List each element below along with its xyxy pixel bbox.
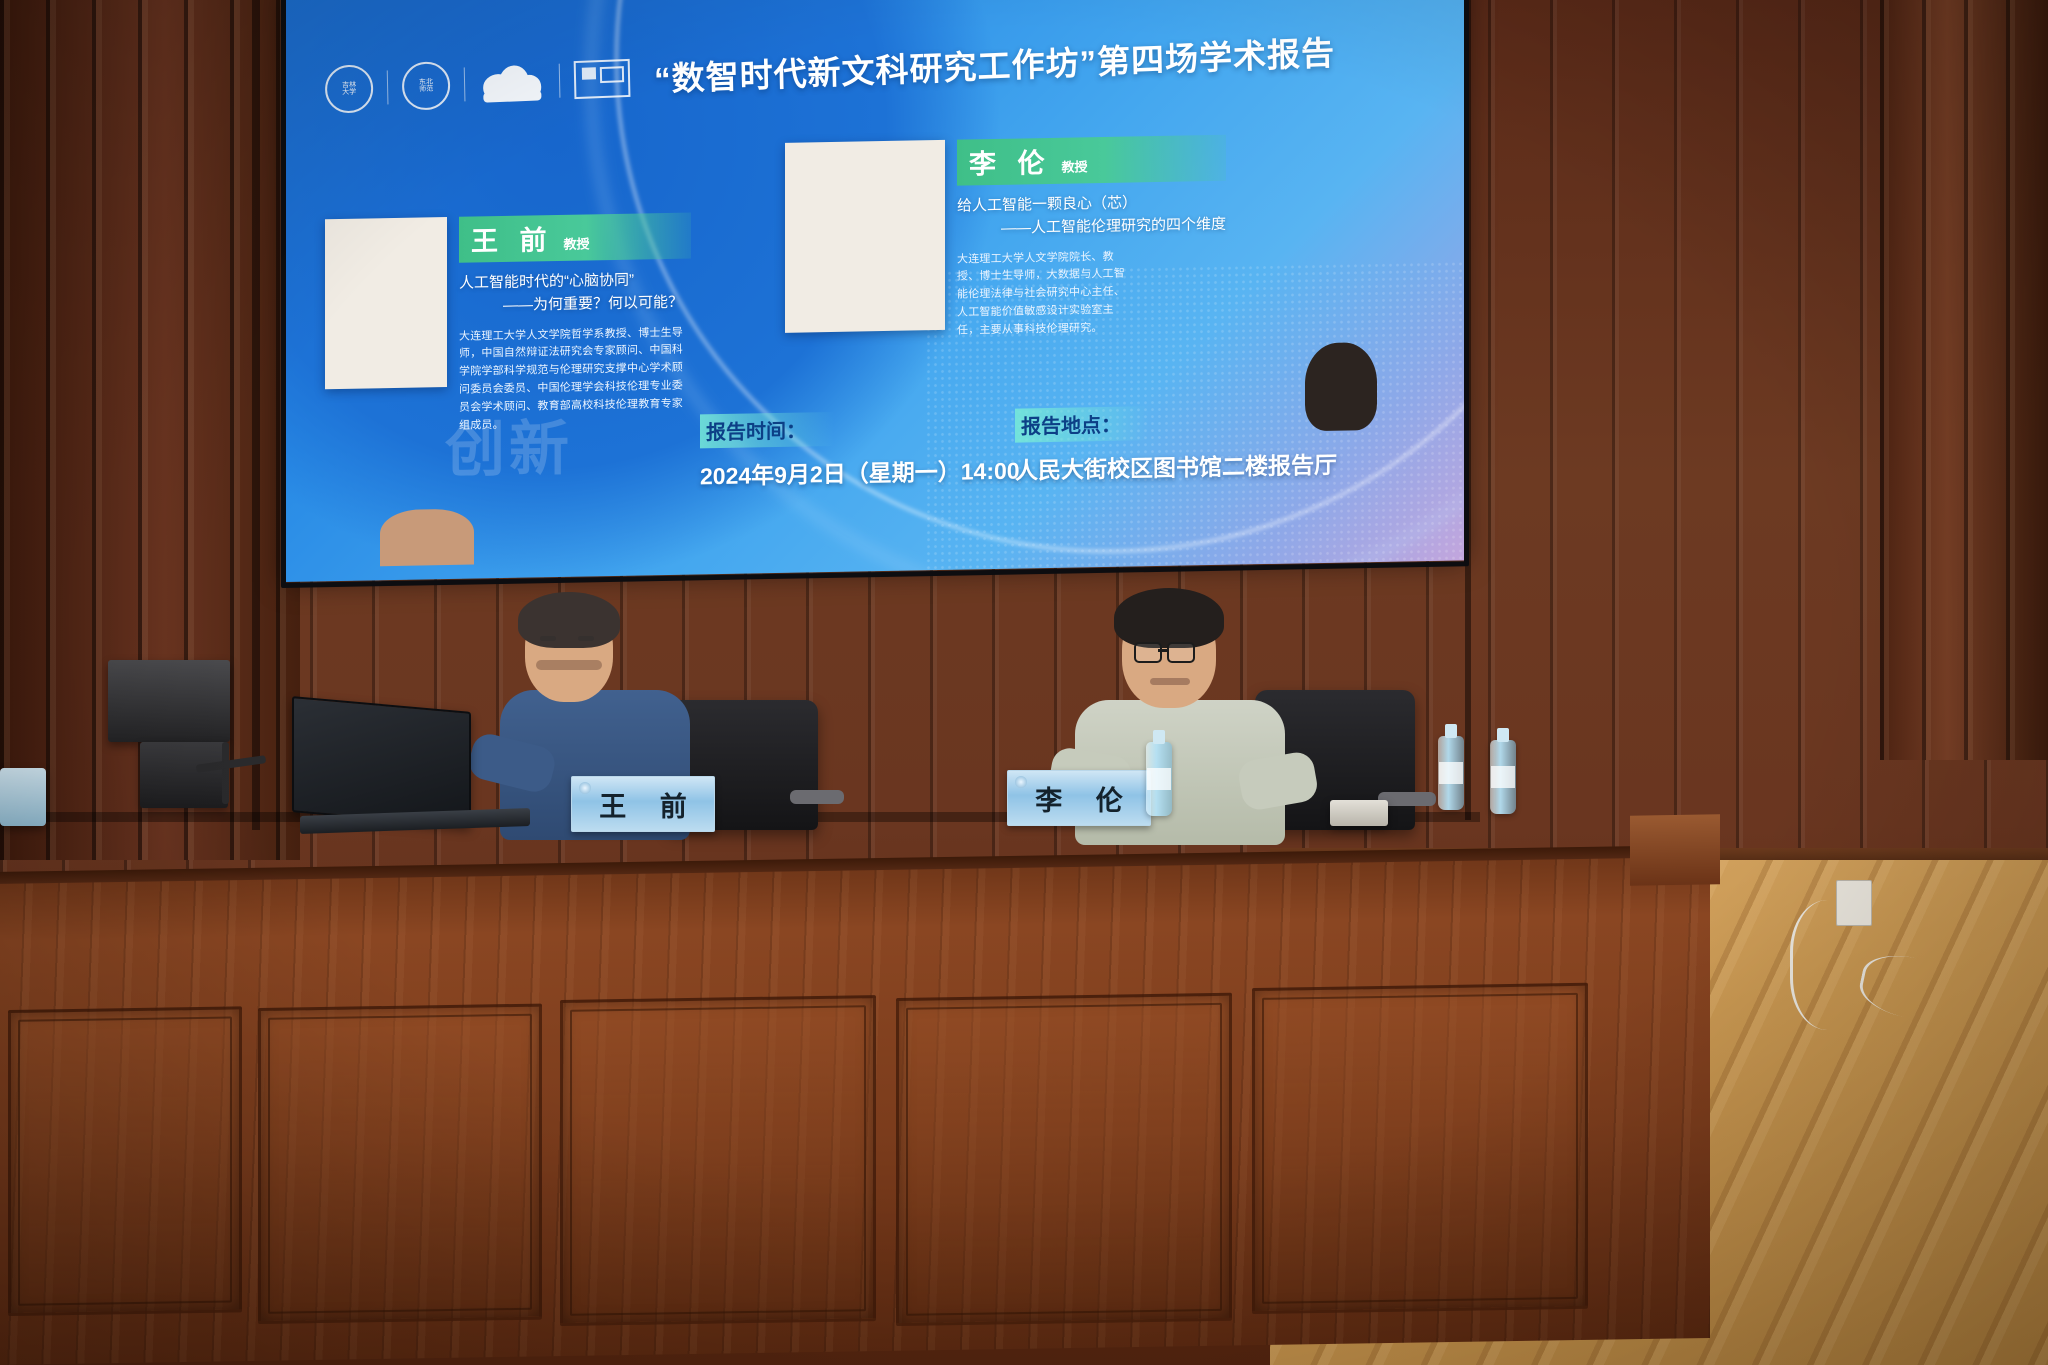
water-bottle[interactable] bbox=[1146, 742, 1172, 816]
water-bottle[interactable] bbox=[1438, 736, 1464, 810]
library-logo-icon bbox=[574, 59, 631, 99]
wall-seam bbox=[252, 0, 260, 830]
av-equipment-box[interactable] bbox=[108, 660, 230, 742]
university-emblem-2-icon: 东北师范 bbox=[402, 61, 451, 111]
person-2-hair bbox=[1114, 588, 1224, 648]
speaker-2-name-badge: 李 伦 教授 bbox=[957, 135, 1226, 186]
nameplate-li-lun-text: 李 伦 bbox=[1022, 779, 1136, 818]
desk-front-panel bbox=[258, 1004, 542, 1324]
desk-front-panel bbox=[1252, 983, 1588, 1314]
person-1-eye bbox=[540, 636, 556, 641]
nameplate-emblem-icon bbox=[1015, 776, 1027, 788]
speaker-1-name-badge: 王 前 教授 bbox=[459, 213, 691, 263]
desk-microphone-base[interactable] bbox=[1330, 800, 1388, 826]
emblem-1-text: 吉林大学 bbox=[342, 81, 356, 96]
eyeglasses-icon bbox=[1134, 642, 1208, 662]
place-label: 报告地点： bbox=[1015, 406, 1149, 442]
speaker-1-talk-title: 人工智能时代的“心脑协同” bbox=[459, 272, 634, 292]
speaker-1-talk: 人工智能时代的“心脑协同” ——为何重要？何以可能？ bbox=[459, 268, 691, 319]
logo-divider bbox=[559, 64, 561, 98]
nameplate-wang-qian: 王 前 bbox=[571, 776, 715, 832]
water-bottle[interactable] bbox=[1490, 740, 1516, 814]
water-bottle[interactable] bbox=[0, 768, 46, 826]
nameplate-li-lun: 李 伦 bbox=[1007, 770, 1151, 826]
university-emblem-1-icon: 吉林大学 bbox=[325, 64, 374, 114]
place-block: 报告地点： 人民大街校区图书馆二楼报告厅 bbox=[1015, 403, 1337, 486]
speaker-1-talk-subtitle: ——为何重要？何以可能？ bbox=[459, 291, 691, 319]
speaker-2-talk-title: 给人工智能一颗良心（芯） bbox=[957, 194, 1137, 214]
microphone-stand bbox=[222, 742, 229, 804]
time-label: 报告时间： bbox=[700, 412, 834, 448]
wall-right-column-grain bbox=[1880, 0, 2048, 760]
speaker-2-bio: 大连理工大学人文学院院长、教授、博士生导师，大数据与人工智能伦理法律与社会研究中… bbox=[957, 248, 1135, 340]
speaker-1-name: 王 前 bbox=[471, 218, 554, 259]
chair-armrest bbox=[790, 790, 844, 804]
laptop-screen[interactable] bbox=[292, 696, 471, 828]
emblem-2-text: 东北师范 bbox=[419, 78, 433, 93]
institute-cloud-logo-icon bbox=[479, 60, 546, 105]
conference-room-photo: 创新 吉林大学 东北师范 “数智时代新 bbox=[0, 0, 2048, 1365]
speaker-2-title-tag: 教授 bbox=[1062, 156, 1088, 175]
speaker-2-talk-subtitle: ——人工智能伦理研究的四个维度 bbox=[957, 213, 1226, 241]
speaker-card-1: 王 前 教授 人工智能时代的“心脑协同” ——为何重要？何以可能？ 大连理工大学… bbox=[325, 210, 805, 437]
time-block: 报告时间： 2024年9月2日（星期一）14:00 bbox=[700, 409, 1020, 492]
person-1-hair bbox=[518, 592, 620, 648]
speaker-card-2: 李 伦 教授 给人工智能一颗良心（芯） ——人工智能伦理研究的四个维度 大连理工… bbox=[785, 131, 1445, 344]
screen-footer: 报告时间： 2024年9月2日（星期一）14:00 报告地点： 人民大街校区图书… bbox=[285, 400, 1465, 532]
desk-right-end bbox=[1630, 814, 1720, 885]
place-value: 人民大街校区图书馆二楼报告厅 bbox=[1015, 446, 1337, 486]
person-1-eye bbox=[578, 636, 594, 641]
nameplate-wang-qian-text: 王 前 bbox=[586, 785, 700, 824]
desk-front-panel bbox=[8, 1006, 242, 1316]
speaker-1-portrait bbox=[325, 217, 447, 389]
led-presentation-screen: 创新 吉林大学 东北师范 “数智时代新 bbox=[285, 0, 1465, 582]
speaker-1-title-tag: 教授 bbox=[564, 233, 590, 252]
person-1-mouth-shadow bbox=[536, 660, 602, 670]
desk-front-panel bbox=[560, 995, 876, 1326]
desk-front-panel bbox=[896, 993, 1232, 1326]
wall-seam bbox=[1465, 0, 1471, 820]
nameplate-emblem-icon bbox=[579, 782, 591, 794]
speaker-2-portrait bbox=[785, 140, 945, 333]
time-value: 2024年9月2日（星期一）14:00 bbox=[700, 452, 1020, 492]
speaker-2-talk: 给人工智能一颗良心（芯） ——人工智能伦理研究的四个维度 bbox=[957, 190, 1226, 241]
logo-divider bbox=[387, 70, 389, 104]
av-equipment-box[interactable] bbox=[140, 742, 228, 808]
person-2-mouth bbox=[1150, 678, 1190, 685]
logo-divider bbox=[464, 67, 466, 101]
speaker-2-name: 李 伦 bbox=[969, 141, 1052, 182]
